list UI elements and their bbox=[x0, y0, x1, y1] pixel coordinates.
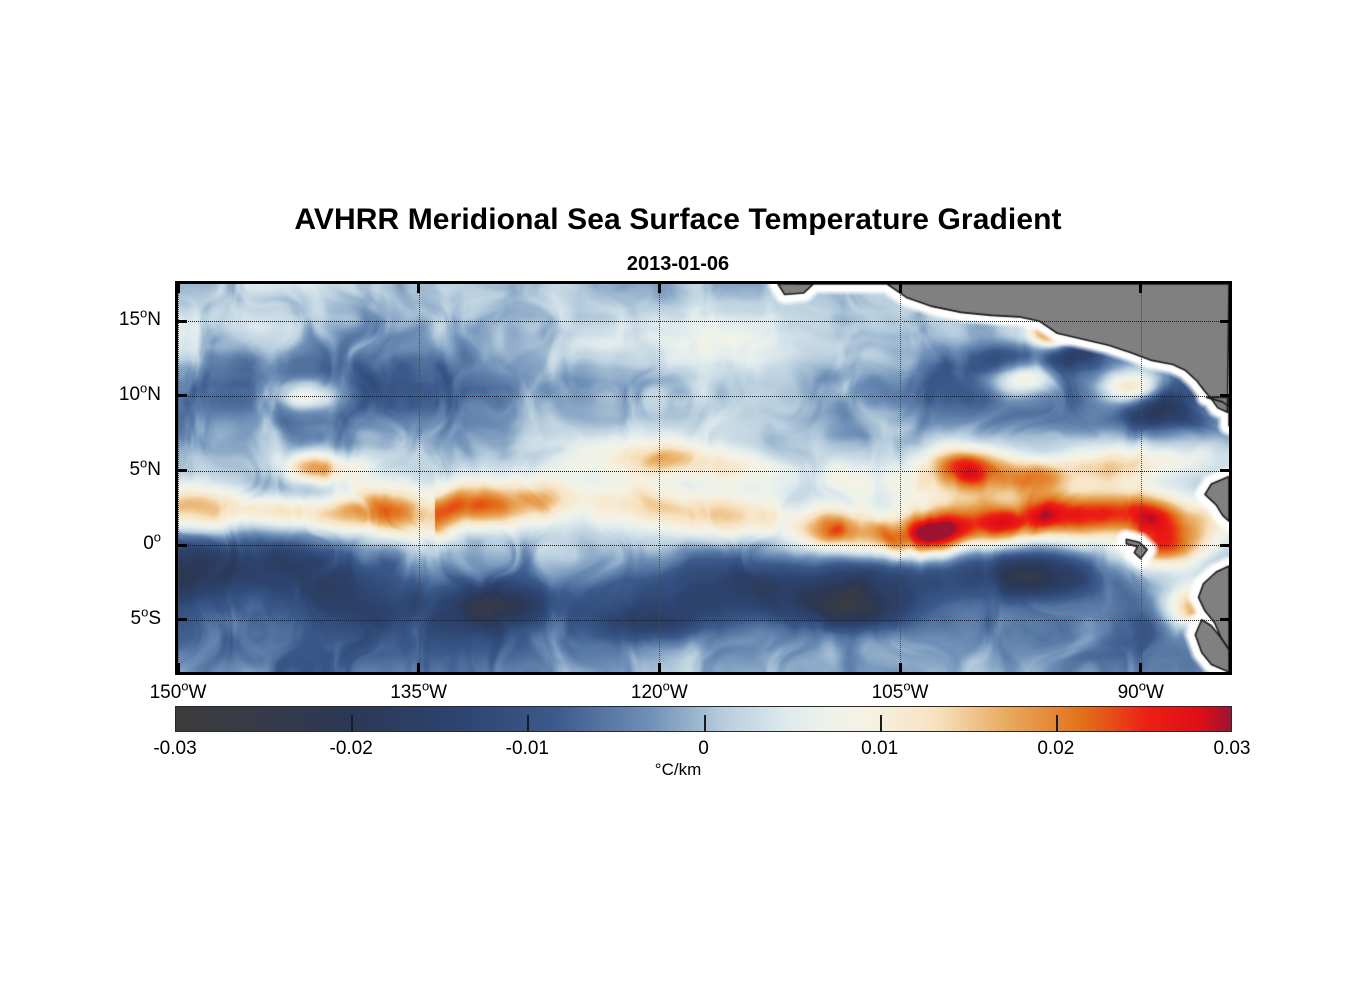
x-tick bbox=[658, 284, 661, 293]
y-tick bbox=[178, 618, 187, 621]
x-tick-label: 135oW bbox=[349, 682, 489, 704]
y-tick bbox=[178, 469, 187, 472]
x-tick bbox=[1139, 284, 1142, 293]
colorbar-tick-label: 0.03 bbox=[1162, 738, 1302, 760]
x-tick bbox=[177, 663, 180, 672]
x-tick bbox=[417, 663, 420, 672]
x-tick-label: 90oW bbox=[1071, 682, 1211, 704]
map-axes[interactable] bbox=[175, 281, 1232, 675]
sst-gradient-heatmap bbox=[178, 284, 1229, 672]
y-tick bbox=[178, 394, 187, 397]
colorbar-unit-label: °C/km bbox=[0, 760, 1356, 780]
x-tick bbox=[899, 284, 902, 293]
y-tick bbox=[1220, 394, 1229, 397]
y-tick bbox=[178, 320, 187, 323]
colorbar-tick-label: 0 bbox=[634, 738, 774, 760]
y-tick bbox=[1220, 320, 1229, 323]
y-tick bbox=[1220, 618, 1229, 621]
colorbar-tick bbox=[527, 715, 529, 732]
colorbar[interactable] bbox=[175, 706, 1232, 732]
y-tick-label: 5oN bbox=[41, 459, 161, 481]
y-tick bbox=[1220, 469, 1229, 472]
x-tick bbox=[417, 284, 420, 293]
y-tick-label: 0o bbox=[41, 533, 161, 555]
y-tick-label: 5oS bbox=[41, 608, 161, 630]
x-tick-label: 120oW bbox=[589, 682, 729, 704]
x-tick bbox=[658, 663, 661, 672]
figure-subtitle: 2013-01-06 bbox=[0, 253, 1356, 276]
y-tick-label: 15oN bbox=[41, 309, 161, 331]
x-tick bbox=[177, 284, 180, 293]
colorbar-tick-label: 0.02 bbox=[986, 738, 1126, 760]
y-tick bbox=[178, 544, 187, 547]
y-tick bbox=[1220, 544, 1229, 547]
colorbar-tick bbox=[704, 715, 706, 732]
colorbar-tick bbox=[880, 715, 882, 732]
colorbar-tick bbox=[351, 715, 353, 732]
figure-canvas: AVHRR Meridional Sea Surface Temperature… bbox=[0, 0, 1356, 1000]
x-tick-label: 150oW bbox=[108, 682, 248, 704]
x-tick bbox=[1139, 663, 1142, 672]
x-tick bbox=[899, 663, 902, 672]
figure-title: AVHRR Meridional Sea Surface Temperature… bbox=[0, 203, 1356, 237]
y-tick-label: 10oN bbox=[41, 384, 161, 406]
colorbar-tick-label: -0.03 bbox=[105, 738, 245, 760]
colorbar-tick-label: -0.01 bbox=[457, 738, 597, 760]
colorbar-tick bbox=[1056, 715, 1058, 732]
colorbar-tick-label: -0.02 bbox=[281, 738, 421, 760]
x-tick-label: 105oW bbox=[830, 682, 970, 704]
colorbar-tick-label: 0.01 bbox=[810, 738, 950, 760]
